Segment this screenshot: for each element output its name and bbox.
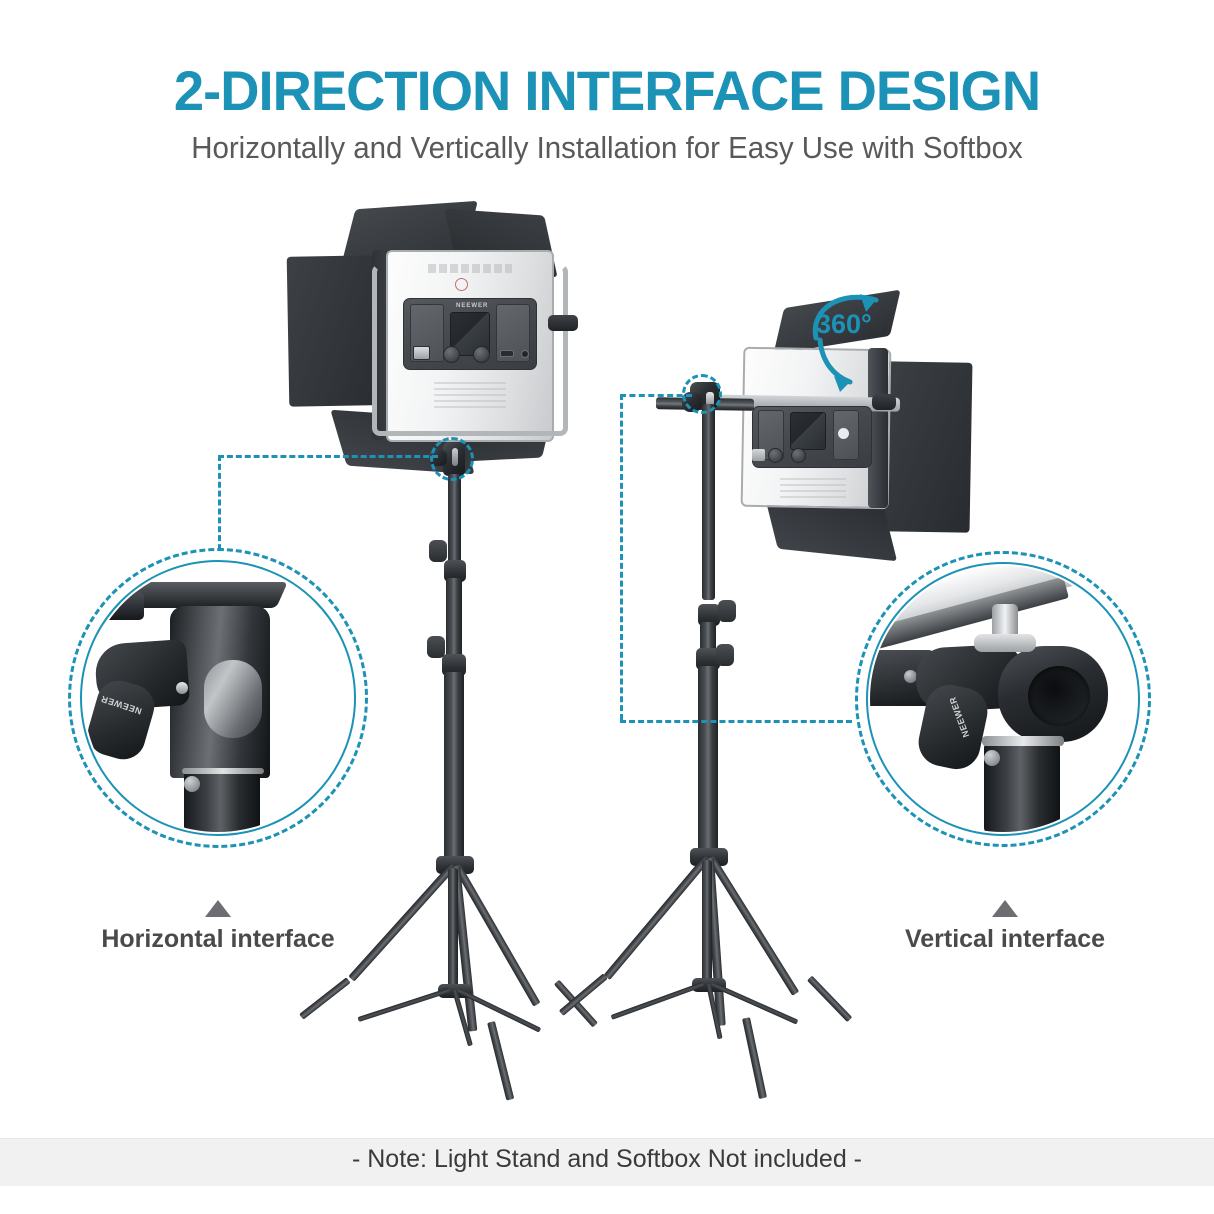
right-stand-pole-bottom bbox=[698, 666, 718, 856]
right-tripod-leg-3-lower bbox=[742, 1017, 767, 1099]
panel-spec-print-right bbox=[780, 478, 846, 498]
rotation-degree-label: 360° bbox=[816, 309, 872, 340]
left-stand-lock-knob-2[interactable] bbox=[427, 636, 445, 658]
right-connector-horizontal-top bbox=[620, 394, 692, 397]
left-knob-screw bbox=[176, 682, 188, 694]
left-tripod-center-column bbox=[448, 868, 458, 990]
left-stand-pole-top bbox=[448, 474, 461, 570]
callout-right-marker-triangle bbox=[992, 900, 1018, 917]
callout-right-label: Vertical interface bbox=[855, 925, 1155, 954]
right-tube-ring bbox=[982, 736, 1064, 746]
power-switch-left bbox=[413, 346, 430, 360]
left-tripod-leg-3-lower bbox=[487, 1021, 514, 1101]
power-switch-right bbox=[752, 449, 765, 461]
left-tripod-leg-1 bbox=[348, 863, 456, 981]
callout-left-label: Horizontal interface bbox=[68, 925, 368, 954]
left-stand-pole-mid bbox=[446, 578, 462, 664]
panel-warning-icon-left bbox=[455, 278, 468, 291]
panel-spec-print-left bbox=[434, 382, 506, 408]
left-bracket-arm-end bbox=[104, 592, 144, 620]
left-stand-lock-knob-1[interactable] bbox=[429, 540, 447, 562]
brightness-knob-left bbox=[443, 346, 460, 363]
left-stand-pole-bottom bbox=[444, 672, 464, 868]
temperature-knob-right bbox=[791, 448, 806, 463]
right-mount-receiver-bore bbox=[1028, 666, 1090, 726]
right-tripod-center-column bbox=[702, 860, 712, 984]
page-subtitle: Horizontally and Vertically Installation… bbox=[30, 130, 1183, 166]
yoke-tilt-knob-left bbox=[548, 315, 578, 331]
right-stand-lock-knob-1[interactable] bbox=[718, 600, 736, 622]
right-stand-pole-top bbox=[702, 404, 715, 600]
brightness-knob-right bbox=[768, 448, 783, 463]
panel-brand-left: NEEWER bbox=[456, 303, 488, 309]
infographic-page: 2-DIRECTION INTERFACE DESIGN Horizontall… bbox=[0, 0, 1214, 1214]
right-tripod-brace-1 bbox=[611, 982, 705, 1020]
lcd-screen-right bbox=[790, 412, 826, 450]
right-connector-horizontal-bottom bbox=[620, 720, 852, 723]
right-tube-collar-screw bbox=[984, 750, 1000, 766]
panel-print-top-left bbox=[428, 264, 512, 273]
dc-port-left bbox=[500, 350, 514, 357]
right-tripod-leg-1 bbox=[604, 855, 710, 980]
barn-door-left-side bbox=[287, 255, 376, 406]
left-connector-horizontal bbox=[218, 455, 438, 458]
callout-left-marker-triangle bbox=[205, 900, 231, 917]
callout-right-content: NEEWER bbox=[870, 566, 1136, 832]
left-mount-highlight-ring bbox=[430, 437, 474, 481]
indicator-light-right bbox=[838, 428, 849, 439]
right-connector-vertical bbox=[620, 394, 623, 720]
right-stand-lock-knob-2[interactable] bbox=[716, 644, 734, 666]
page-title: 2-DIRECTION INTERFACE DESIGN bbox=[18, 58, 1196, 123]
aux-port-left bbox=[521, 350, 529, 358]
temperature-knob-left bbox=[473, 346, 490, 363]
footer-note-text: - Note: Light Stand and Softbox Not incl… bbox=[0, 1145, 1214, 1174]
left-tube-ring bbox=[182, 768, 264, 774]
left-connector-vertical bbox=[218, 455, 221, 559]
right-top-screw-base bbox=[974, 634, 1036, 652]
left-mount-socket bbox=[204, 660, 262, 738]
left-tripod-leg-1-lower bbox=[299, 977, 351, 1019]
right-tripod-leg-2-lower bbox=[807, 976, 852, 1023]
left-tripod-brace-1 bbox=[357, 988, 450, 1022]
callout-left-content: NEEWER bbox=[84, 564, 352, 832]
left-tube-collar-screw bbox=[184, 776, 200, 792]
